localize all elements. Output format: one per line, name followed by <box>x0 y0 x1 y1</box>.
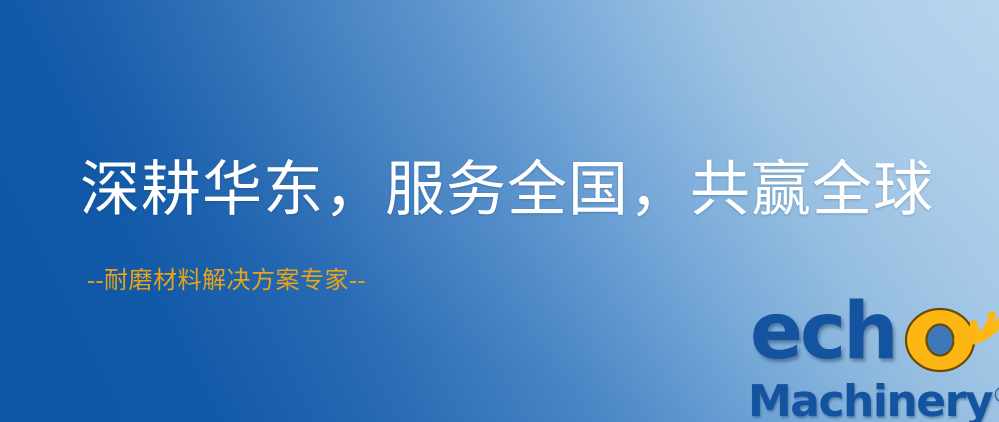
banner-subtitle: --耐磨材料解决方案专家-- <box>87 266 366 296</box>
logo-wordmark: ech <box>748 293 999 369</box>
signal-waves-icon <box>952 288 999 346</box>
logo-echo-text: ech <box>750 293 896 371</box>
banner-headline: 深耕华东，服务全国，共赢全球 <box>80 155 934 225</box>
promo-banner: 深耕华东，服务全国，共赢全球 --耐磨材料解决方案专家-- ech <box>0 0 999 422</box>
logo-tagline: Machinery® <box>748 371 999 422</box>
registered-trademark-icon: ® <box>992 383 999 407</box>
logo-tagline-text: Machinery <box>748 376 992 422</box>
echo-machinery-logo[interactable]: ech <box>748 293 999 422</box>
